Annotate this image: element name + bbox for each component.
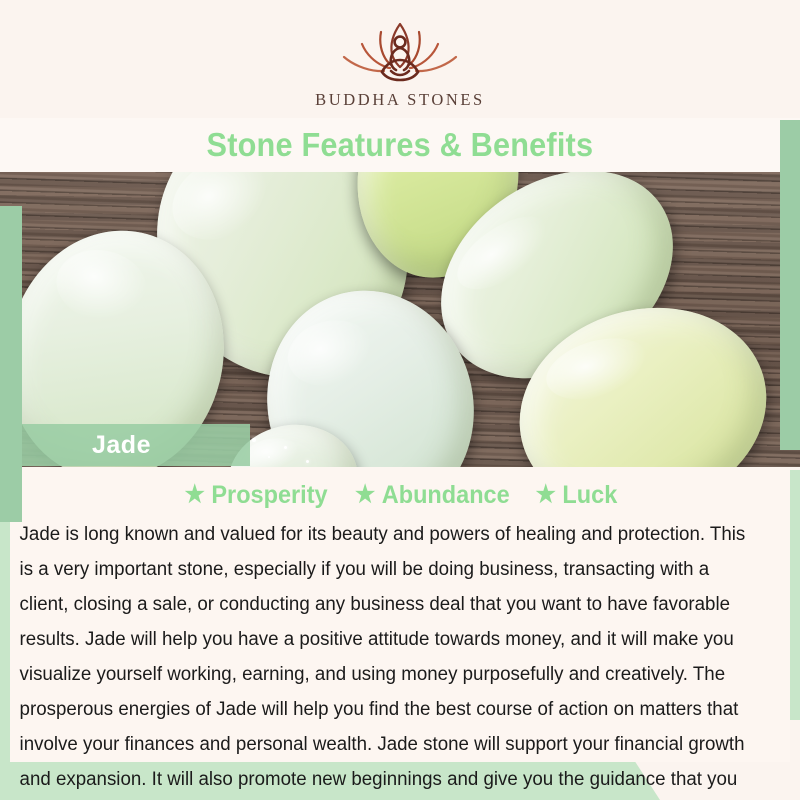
stone-photo — [0, 170, 800, 467]
benefit-keywords: ★ Prosperity ★ Abundance ★ Luck — [10, 477, 790, 513]
star-icon: ★ — [536, 483, 556, 507]
brand-header: BUDDHA STONES — [0, 0, 800, 120]
content-panel: ★ Prosperity ★ Abundance ★ Luck Jade is … — [10, 467, 790, 762]
benefit-keyword-label: Luck — [562, 481, 617, 510]
sparkle — [306, 460, 309, 463]
stone-name-label: Jade — [92, 431, 151, 460]
benefit-keyword: ★ Luck — [536, 481, 618, 510]
benefit-keyword: ★ Prosperity — [185, 481, 328, 510]
right-edge-accent — [780, 120, 800, 450]
sparkle — [284, 446, 287, 449]
left-edge-accent — [0, 206, 22, 522]
page-title: Stone Features & Benefits — [207, 126, 594, 164]
benefit-keyword-label: Abundance — [382, 481, 510, 510]
benefit-keyword: ★ Abundance — [355, 481, 510, 510]
benefit-keyword-label: Prosperity — [212, 481, 328, 510]
stone-name-band: Jade — [0, 424, 250, 466]
description-text: Jade is long known and valued for its be… — [10, 517, 755, 800]
title-strip: Stone Features & Benefits — [0, 118, 800, 172]
star-icon: ★ — [185, 483, 205, 507]
infographic-page: BUDDHA STONES Stone Features & Benefits … — [0, 0, 800, 800]
sparkle — [252, 438, 256, 442]
sparkle — [268, 456, 270, 458]
star-icon: ★ — [355, 483, 375, 507]
lotus-meditation-logo-icon — [334, 18, 466, 86]
brand-name: BUDDHA STONES — [315, 90, 485, 110]
